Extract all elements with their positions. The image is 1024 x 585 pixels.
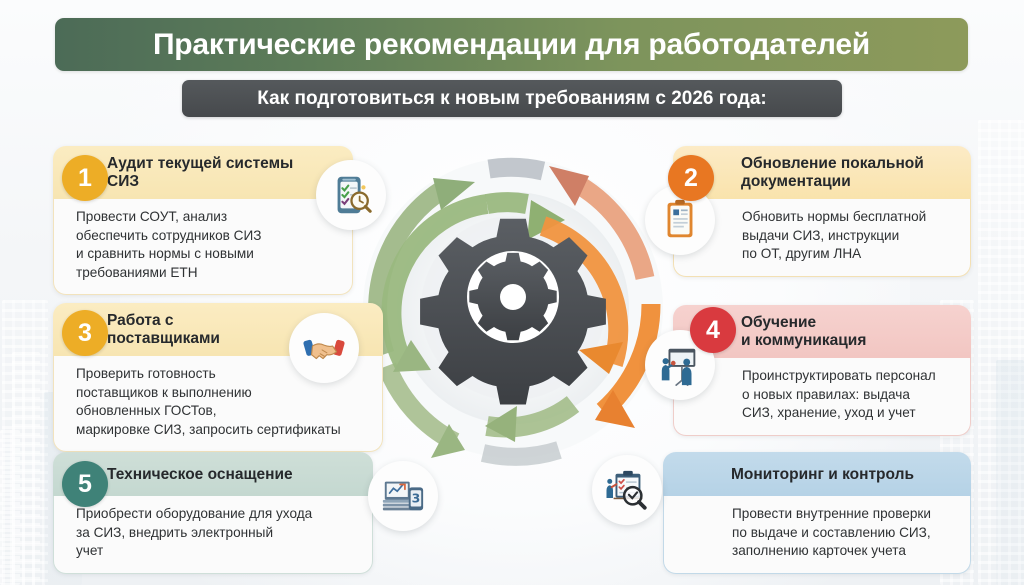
- step-badge-2: 2: [668, 155, 714, 201]
- step-badge-3: 3: [62, 310, 108, 356]
- step-card-2-body: Обновить нормы бесплатной выдачи СИЗ, ин…: [673, 199, 971, 277]
- clipboard-checklist-magnifier-icon: [316, 160, 386, 230]
- step-badge-2-number: 2: [684, 164, 698, 193]
- title-banner: Практические рекомендации для работодате…: [55, 18, 968, 71]
- step-card-4-title: Обучение и коммуникация: [741, 314, 866, 350]
- page-title: Практические рекомендации для работодате…: [153, 28, 870, 62]
- step-badge-4-number: 4: [706, 316, 720, 345]
- subtitle-bar: Как подготовиться к новым требованиям с …: [182, 80, 842, 117]
- step-card-1-body: Провести СОУТ, анализ обеспечить сотрудн…: [53, 199, 353, 295]
- step-badge-5: 5: [62, 461, 108, 507]
- step-badge-3-number: 3: [78, 319, 92, 348]
- step-card-6-text: Провести внутренние проверки по выдаче и…: [732, 505, 958, 561]
- step-card-4-body: Проинструктировать персонал о новых прав…: [673, 358, 971, 436]
- step-card-4-text: Проинструктировать персонал о новых прав…: [742, 367, 958, 423]
- step-card-6-body: Провести внутренние проверки по выдаче и…: [663, 496, 971, 574]
- step-card-1-title: Аудит текущей системы СИЗ: [107, 155, 293, 191]
- step-card-1-text: Провести СОУТ, анализ обеспечить сотрудн…: [76, 208, 338, 282]
- step-badge-4: 4: [690, 307, 736, 353]
- handshake-icon: [289, 313, 359, 383]
- step-card-6[interactable]: Мониторинг и контроль Провести внутренни…: [663, 452, 971, 574]
- gear-icon: [420, 219, 606, 405]
- svg-text:3: 3: [412, 491, 421, 506]
- arrow-outer-bottom: [483, 450, 559, 457]
- step-card-2[interactable]: Обновление покальной документации Обнови…: [673, 146, 971, 277]
- step-card-5-text: Приобрести оборудование для ухода за СИЗ…: [76, 505, 358, 561]
- checklist-audit-magnifier-icon: [592, 455, 662, 525]
- step-card-5-title: Техническое оснащение: [107, 466, 293, 484]
- step-card-3-title: Работа с поставщиками: [107, 312, 220, 348]
- step-badge-1: 1: [62, 155, 108, 201]
- step-badge-1-number: 1: [78, 164, 92, 193]
- step-card-6-title: Мониторинг и контроль: [731, 466, 914, 484]
- page-subtitle: Как подготовиться к новым требованиям с …: [257, 88, 766, 110]
- laptop-chart-device-icon: 3: [368, 461, 438, 531]
- step-card-2-header: Обновление покальной документации: [673, 146, 971, 199]
- step-badge-5-number: 5: [78, 470, 92, 499]
- step-card-5-body: Приобрести оборудование для ухода за СИЗ…: [53, 496, 373, 574]
- step-card-2-title: Обновление покальной документации: [741, 155, 924, 191]
- step-card-2-text: Обновить нормы бесплатной выдачи СИЗ, ин…: [742, 208, 958, 264]
- infographic-canvas: Практические рекомендации для работодате…: [0, 0, 1024, 585]
- arrow-outer-gray-top: [489, 167, 543, 171]
- step-card-6-header: Мониторинг и контроль: [663, 452, 971, 496]
